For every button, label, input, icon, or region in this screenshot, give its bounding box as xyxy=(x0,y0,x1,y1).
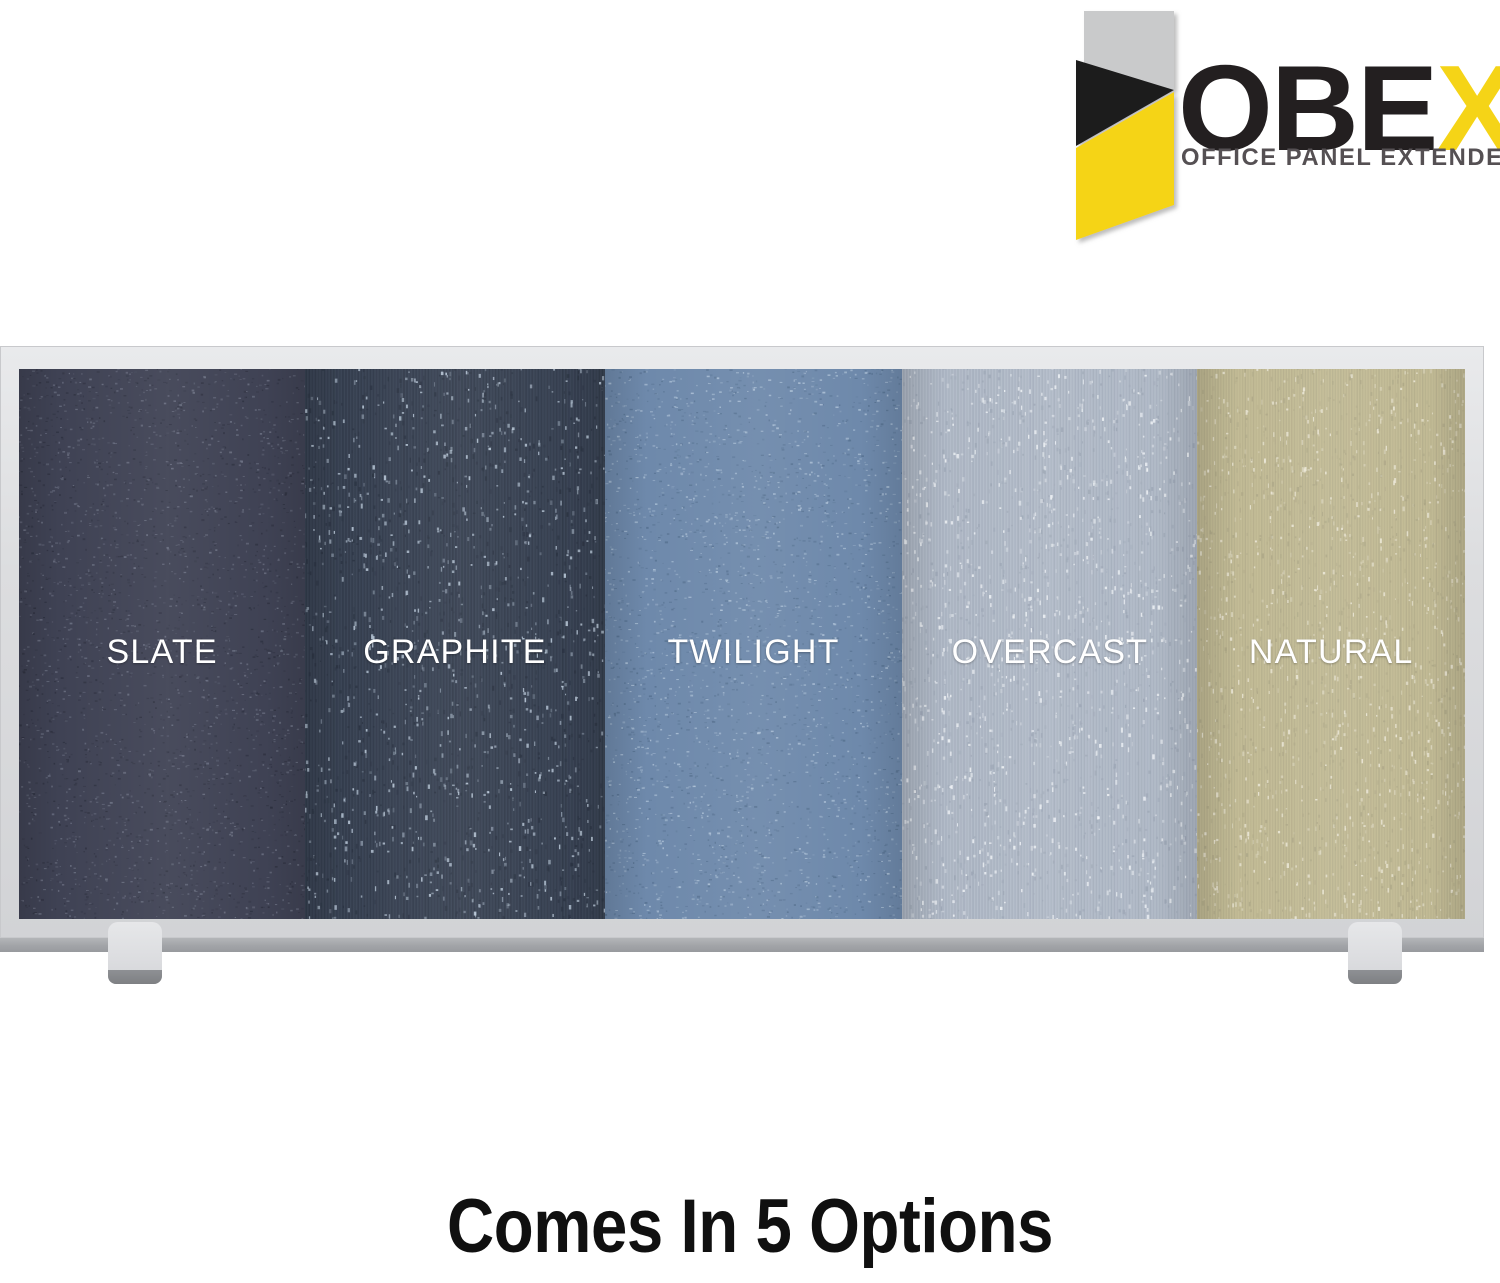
swatch-label-twilight: TWILIGHT xyxy=(668,633,840,672)
panel-extender-product: SLATEGRAPHITETWILIGHTOVERCASTNATURAL xyxy=(0,346,1484,1006)
brand-tagline: OFFICE PANEL EXTENDERS xyxy=(1181,144,1500,172)
frame-bottom-rail xyxy=(0,938,1484,952)
swatch-label-graphite: GRAPHITE xyxy=(363,633,546,672)
fabric-swatch-twilight[interactable]: TWILIGHT xyxy=(605,369,903,919)
panel-frame: SLATEGRAPHITETWILIGHTOVERCASTNATURAL xyxy=(0,346,1484,938)
fabric-swatch-graphite[interactable]: GRAPHITE xyxy=(305,369,604,919)
obex-chevron-mark-icon xyxy=(1070,8,1190,258)
fabric-swatch-natural[interactable]: NATURAL xyxy=(1197,369,1465,919)
mount-bracket-right xyxy=(1348,922,1402,984)
caption-text: Comes In 5 Options xyxy=(105,1183,1395,1270)
obex-wordmark: OBEX OFFICE PANEL EXTENDERS xyxy=(1178,48,1470,198)
swatch-label-overcast: OVERCAST xyxy=(952,633,1149,672)
swatch-label-natural: NATURAL xyxy=(1249,633,1414,672)
fabric-swatch-overcast[interactable]: OVERCAST xyxy=(902,369,1197,919)
fabric-swatch-strip: SLATEGRAPHITETWILIGHTOVERCASTNATURAL xyxy=(19,369,1465,919)
fabric-swatch-slate[interactable]: SLATE xyxy=(19,369,305,919)
mount-bracket-left xyxy=(108,922,162,984)
swatch-label-slate: SLATE xyxy=(107,633,218,672)
brand-logo: OBEX OFFICE PANEL EXTENDERS xyxy=(1070,8,1470,258)
